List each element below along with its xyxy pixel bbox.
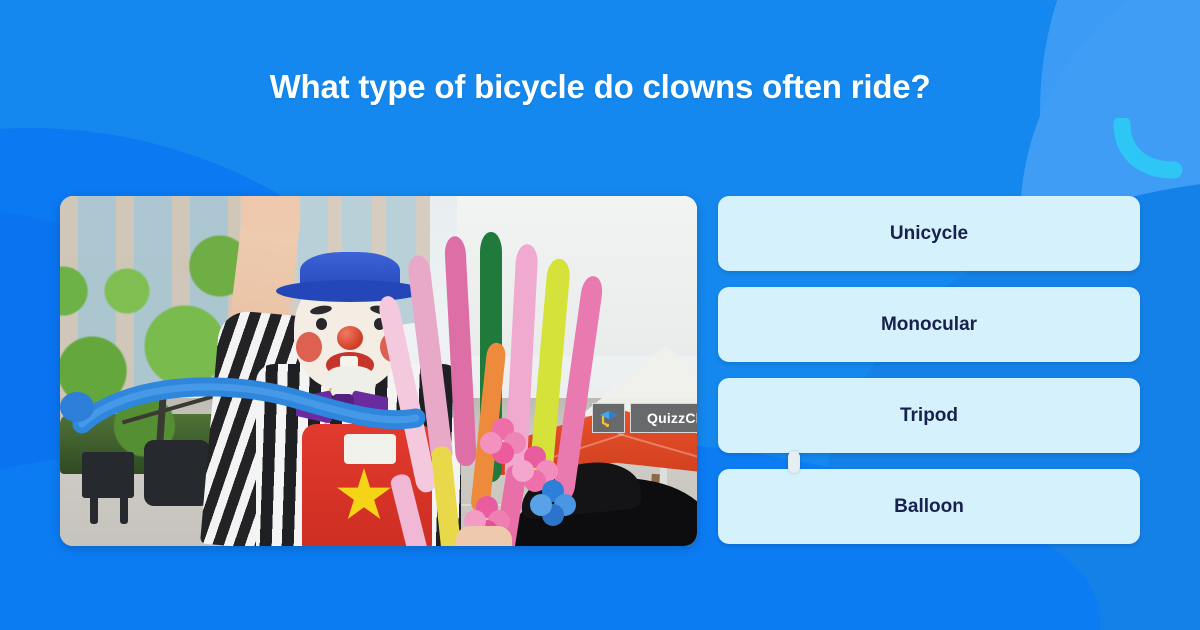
photo-scene	[60, 196, 697, 546]
answer-label: Tripod	[900, 405, 958, 427]
clown-fist	[242, 196, 300, 232]
clown-hat-brim	[276, 280, 424, 302]
graduation-cap-icon	[592, 403, 625, 433]
clown-hand	[456, 526, 512, 546]
brand-name: QuizzClub	[630, 403, 697, 433]
stage-equipment	[144, 440, 210, 506]
scroll-nub[interactable]	[788, 451, 800, 473]
answer-option-4[interactable]: Balloon	[718, 469, 1140, 544]
brand-watermark: QuizzClub	[592, 403, 697, 433]
answer-option-3[interactable]: Tripod	[718, 378, 1140, 453]
cyan-hook-icon	[1112, 118, 1186, 180]
balloon-arch-end	[60, 392, 94, 422]
answer-options: Unicycle Monocular Tripod Balloon	[718, 196, 1140, 544]
question-image: QuizzClub	[60, 196, 697, 546]
answer-option-1[interactable]: Unicycle	[718, 196, 1140, 271]
balloon-flower	[530, 480, 576, 526]
clown-cheek-paint	[296, 332, 322, 362]
answer-label: Monocular	[881, 314, 977, 336]
clown-red-nose	[337, 326, 363, 350]
chair-leg	[120, 494, 128, 524]
question-title: What type of bicycle do clowns often rid…	[60, 68, 1140, 106]
blue-balloon-arch	[68, 374, 428, 448]
folding-chair	[82, 452, 134, 498]
quiz-question-card: What type of bicycle do clowns often rid…	[0, 0, 1200, 630]
answer-option-2[interactable]: Monocular	[718, 287, 1140, 362]
answer-label: Balloon	[894, 496, 964, 518]
answer-label: Unicycle	[890, 223, 968, 245]
chair-leg	[90, 494, 98, 524]
clown-eye	[316, 318, 327, 330]
